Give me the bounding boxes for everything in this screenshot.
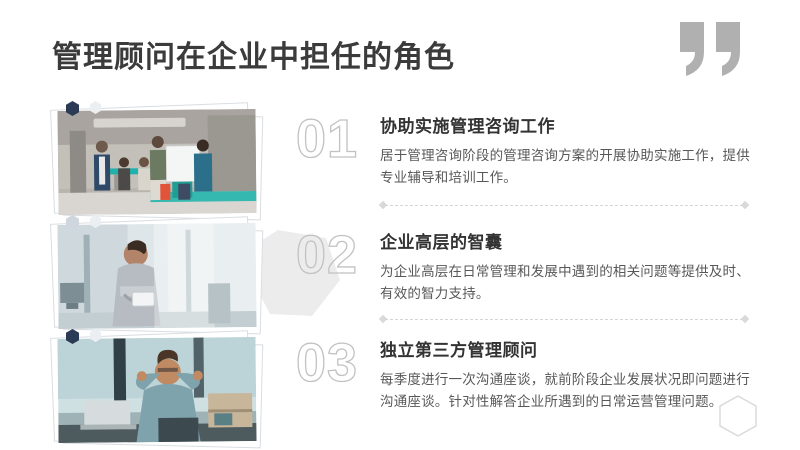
section-number-2: 02 <box>296 228 358 282</box>
section-body-1: 协助实施管理咨询工作 居于管理咨询阶段的管理咨询方案的开展协助实施工作，提供专业… <box>380 112 752 189</box>
section-number-1: 01 <box>296 112 358 166</box>
section-divider-1 <box>380 202 748 209</box>
hexagon-badge-icon <box>66 329 79 344</box>
photo-block-1 <box>58 110 256 214</box>
quote-mark-icon <box>676 18 748 80</box>
hexagon-ghost-icon <box>90 329 101 342</box>
photo-block-2 <box>58 224 256 328</box>
section-divider-2 <box>380 316 748 323</box>
divider-line <box>385 205 743 206</box>
hexagon-badge-icon <box>66 215 79 230</box>
section-row-2: 02 企业高层的智囊 为企业高层在日常管理和发展中遇到的相关问题等提供及时、有效… <box>296 228 752 305</box>
section-number-3: 03 <box>296 336 358 390</box>
section-body-3: 独立第三方管理顾问 每季度进行一次沟通座谈，就前阶段企业发展状况即问题进行沟通座… <box>380 336 752 413</box>
section-image-1 <box>57 109 256 215</box>
divider-cap-right <box>741 201 749 209</box>
section-description-2: 为企业高层在日常管理和发展中遇到的相关问题等提供及时、有效的智力支持。 <box>380 261 752 305</box>
page-title: 管理顾问在企业中担任的角色 <box>52 32 455 76</box>
section-body-2: 企业高层的智囊 为企业高层在日常管理和发展中遇到的相关问题等提供及时、有效的智力… <box>380 228 752 305</box>
section-image-3 <box>57 337 256 443</box>
photo-block-3 <box>58 338 256 442</box>
section-row-3: 03 独立第三方管理顾问 每季度进行一次沟通座谈，就前阶段企业发展状况即问题进行… <box>296 336 752 413</box>
section-heading-2: 企业高层的智囊 <box>380 228 752 253</box>
section-image-2 <box>57 223 256 329</box>
hexagon-ghost-icon <box>90 215 101 228</box>
section-description-3: 每季度进行一次沟通座谈，就前阶段企业发展状况即问题进行沟通座谈。针对性解答企业所… <box>380 369 752 413</box>
divider-line <box>385 319 743 320</box>
section-row-1: 01 协助实施管理咨询工作 居于管理咨询阶段的管理咨询方案的开展协助实施工作，提… <box>296 112 752 189</box>
hexagon-outline-icon <box>718 394 758 438</box>
section-heading-3: 独立第三方管理顾问 <box>380 336 752 361</box>
section-description-1: 居于管理咨询阶段的管理咨询方案的开展协助实施工作，提供专业辅导和培训工作。 <box>380 145 752 189</box>
section-heading-1: 协助实施管理咨询工作 <box>380 112 752 137</box>
divider-cap-right <box>741 315 749 323</box>
hexagon-ghost-icon <box>90 101 101 114</box>
slide-root: 管理顾问在企业中担任的角色 <box>0 0 800 450</box>
hexagon-badge-icon <box>66 101 79 116</box>
